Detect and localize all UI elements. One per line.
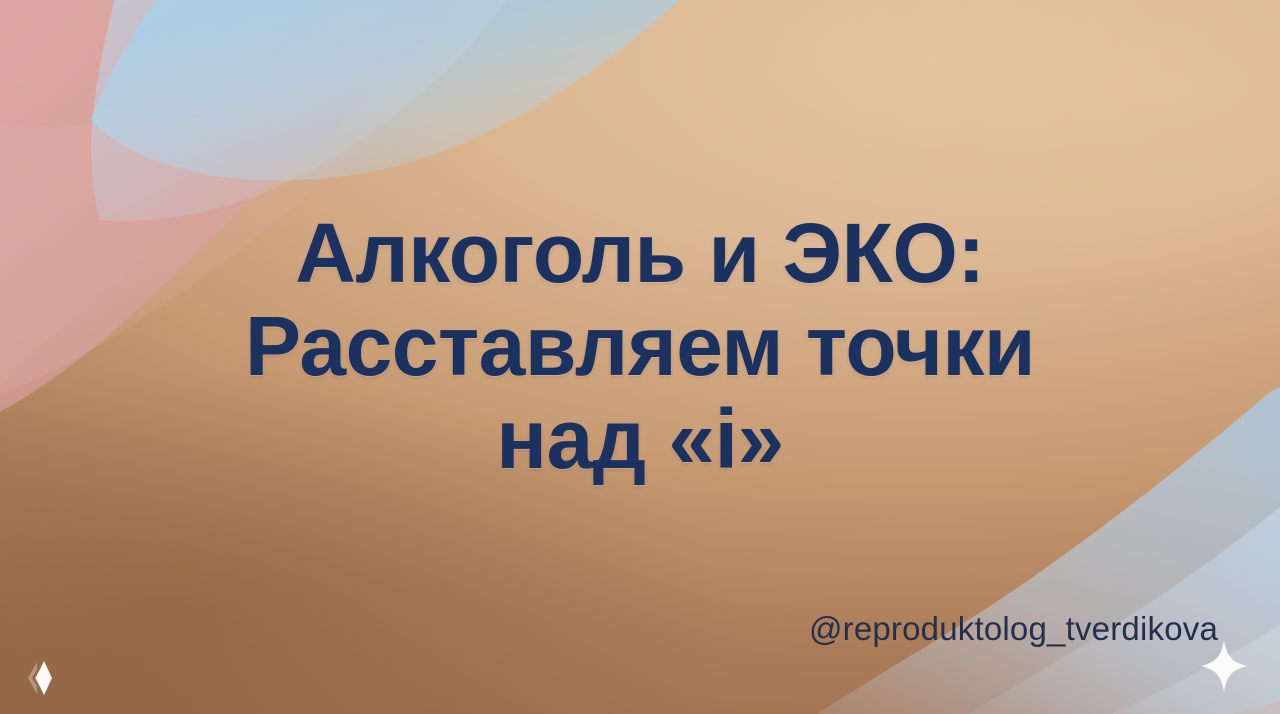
title-line-2: Расставляем точки [0,300,1280,393]
slide-canvas: Алкоголь и ЭКО: Расставляем точки над «i… [0,0,1280,714]
title-line-1: Алкоголь и ЭКО: [0,207,1280,300]
four-point-sparkle-icon [1198,638,1250,694]
title-line-3: над «i» [0,393,1280,486]
social-handle: @reproduktolog_tverdikova [809,610,1218,648]
page-title: Алкоголь и ЭКО: Расставляем точки над «i… [0,207,1280,486]
rhombus-chevron-logo-icon [16,652,72,704]
